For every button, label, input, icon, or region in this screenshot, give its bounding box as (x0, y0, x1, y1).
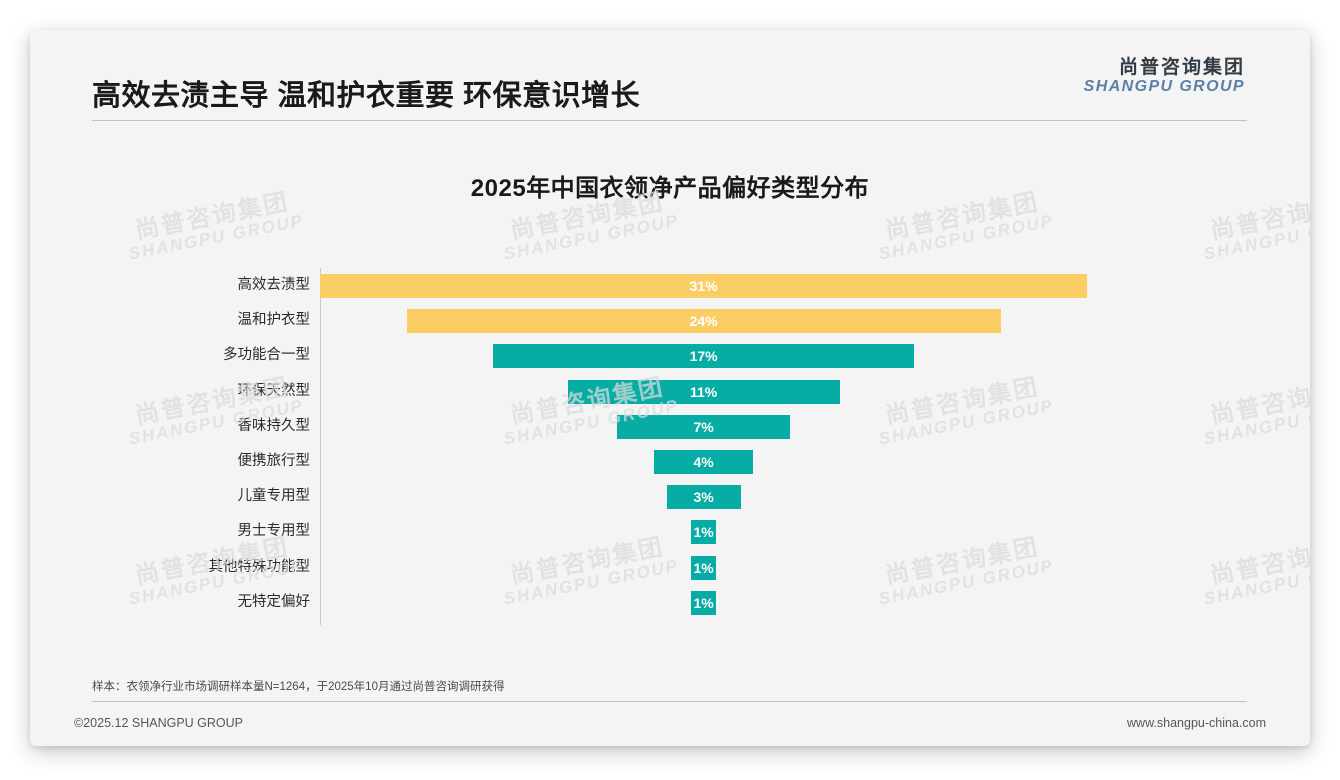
bar[interactable] (493, 344, 914, 368)
watermark-line-en: SHANGPU GROUP (877, 212, 1055, 263)
category-label: 儿童专用型 (92, 479, 310, 514)
category-label: 其他特殊功能型 (92, 550, 310, 585)
chart-title: 2025年中国衣领净产品偏好类型分布 (30, 168, 1310, 203)
chart-row: 高效去渍型31% (92, 268, 1252, 303)
watermark-line-en: SHANGPU GROUP (502, 212, 680, 263)
page-title: 高效去渍主导 温和护衣重要 环保意识增长 (92, 72, 640, 114)
chart-row: 无特定偏好1% (92, 585, 1252, 620)
chart-row: 便携旅行型4% (92, 444, 1252, 479)
bar[interactable] (691, 520, 716, 544)
chart-row: 多功能合一型17% (92, 338, 1252, 373)
bar[interactable] (568, 380, 840, 404)
brand-logo: 尚普咨询集团 SHANGPU GROUP (1084, 58, 1245, 96)
category-label: 环保天然型 (92, 374, 310, 409)
copyright-text: ©2025.12 SHANGPU GROUP (74, 716, 243, 730)
slide-footer: ©2025.12 SHANGPU GROUP www.shangpu-china… (30, 706, 1310, 746)
chart-row: 温和护衣型24% (92, 303, 1252, 338)
bar[interactable] (654, 450, 753, 474)
category-label: 温和护衣型 (92, 303, 310, 338)
category-label: 多功能合一型 (92, 338, 310, 373)
slide-card: 尚普咨询集团SHANGPU GROUP尚普咨询集团SHANGPU GROUP尚普… (30, 30, 1310, 746)
slide-header: 高效去渍主导 温和护衣重要 环保意识增长 尚普咨询集团 SHANGPU GROU… (30, 30, 1310, 122)
category-label: 男士专用型 (92, 514, 310, 549)
bar[interactable] (691, 591, 716, 615)
category-label: 高效去渍型 (92, 268, 310, 303)
bar[interactable] (320, 274, 1087, 298)
header-divider (92, 120, 1247, 121)
chart-row: 其他特殊功能型1% (92, 550, 1252, 585)
sample-note: 样本：衣领净行业市场调研样本量N=1264，于2025年10月通过尚普咨询调研获… (92, 678, 1247, 701)
bar[interactable] (617, 415, 790, 439)
funnel-bar-chart: 高效去渍型31%温和护衣型24%多功能合一型17%环保天然型11%香味持久型7%… (92, 268, 1252, 658)
category-label: 香味持久型 (92, 409, 310, 444)
chart-row: 香味持久型7% (92, 409, 1252, 444)
watermark-line-en: SHANGPU GROUP (127, 212, 305, 263)
chart-row: 男士专用型1% (92, 514, 1252, 549)
bar[interactable] (407, 309, 1001, 333)
bar[interactable] (667, 485, 741, 509)
website-link[interactable]: www.shangpu-china.com (1127, 716, 1266, 730)
brand-name-en: SHANGPU GROUP (1084, 79, 1245, 96)
bar[interactable] (691, 556, 716, 580)
brand-name-cn: 尚普咨询集团 (1084, 58, 1245, 78)
footnote-divider (92, 701, 1247, 702)
watermark-line-en: SHANGPU GROUP (1202, 212, 1310, 263)
category-label: 便携旅行型 (92, 444, 310, 479)
chart-row: 儿童专用型3% (92, 479, 1252, 514)
category-label: 无特定偏好 (92, 585, 310, 620)
chart-row: 环保天然型11% (92, 374, 1252, 409)
footnote-block: 样本：衣领净行业市场调研样本量N=1264，于2025年10月通过尚普咨询调研获… (92, 678, 1247, 702)
